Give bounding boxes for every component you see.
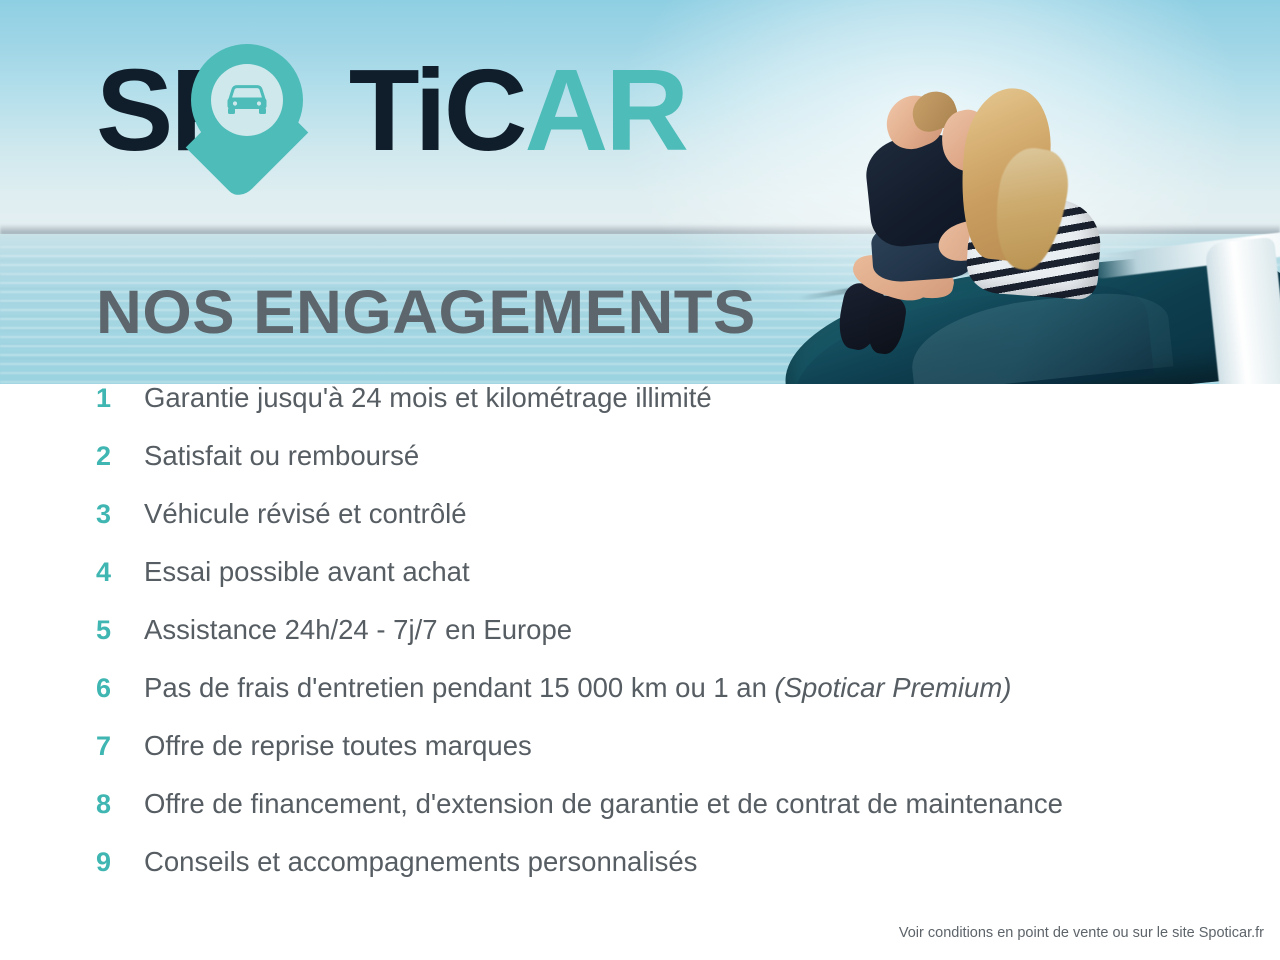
commitments-list: 1 Garantie jusqu'à 24 mois et kilométrag…: [0, 384, 1280, 906]
list-item: 9 Conseils et accompagnements personnali…: [0, 848, 1280, 906]
list-item-number: 3: [96, 501, 144, 528]
logo-text-tic: TiC: [349, 52, 525, 168]
spoticar-commitments-poster: SP TiC AR NOS ENGAGEMENTS 1: [0, 0, 1280, 960]
list-item-text: Offre de reprise toutes marques: [144, 732, 532, 760]
list-item-text: Conseils et accompagnements personnalisé…: [144, 848, 697, 876]
list-item-number: 8: [96, 791, 144, 818]
spoticar-logo: SP TiC AR: [96, 52, 686, 172]
hero-banner: SP TiC AR NOS ENGAGEMENTS: [0, 0, 1280, 384]
car-glyph-icon: [222, 79, 272, 119]
list-item: 4 Essai possible avant achat: [0, 558, 1280, 616]
map-pin-car-icon: [191, 44, 303, 212]
page-title: NOS ENGAGEMENTS: [96, 282, 756, 343]
list-item-text: Offre de financement, d'extension de gar…: [144, 790, 1063, 818]
list-item: 5 Assistance 24h/24 - 7j/7 en Europe: [0, 616, 1280, 674]
logo-wordmark: SP TiC AR: [96, 52, 686, 168]
list-item-number: 4: [96, 559, 144, 586]
list-item-text: Garantie jusqu'à 24 mois et kilométrage …: [144, 384, 712, 412]
list-item-number: 9: [96, 849, 144, 876]
list-item: 2 Satisfait ou remboursé: [0, 442, 1280, 500]
legal-disclaimer: Voir conditions en point de vente ou sur…: [899, 925, 1264, 941]
list-item-text: Véhicule révisé et contrôlé: [144, 500, 467, 528]
list-item: 3 Véhicule révisé et contrôlé: [0, 500, 1280, 558]
list-item: 6 Pas de frais d'entretien pendant 15 00…: [0, 674, 1280, 732]
list-item: 1 Garantie jusqu'à 24 mois et kilométrag…: [0, 384, 1280, 442]
list-item-text: Pas de frais d'entretien pendant 15 000 …: [144, 674, 1011, 702]
list-item-text: Satisfait ou remboursé: [144, 442, 419, 470]
logo-text-ar: AR: [525, 52, 687, 168]
list-item-number: 7: [96, 733, 144, 760]
hero-photo-subject: [760, 0, 1280, 384]
list-item-emphasis: (Spoticar Premium): [775, 672, 1012, 703]
list-item-number: 6: [96, 675, 144, 702]
list-item: 8 Offre de financement, d'extension de g…: [0, 790, 1280, 848]
list-item-number: 5: [96, 617, 144, 644]
list-item-number: 1: [96, 385, 144, 412]
list-item-text: Essai possible avant achat: [144, 558, 470, 586]
list-item-number: 2: [96, 443, 144, 470]
list-item: 7 Offre de reprise toutes marques: [0, 732, 1280, 790]
list-item-text: Assistance 24h/24 - 7j/7 en Europe: [144, 616, 572, 644]
